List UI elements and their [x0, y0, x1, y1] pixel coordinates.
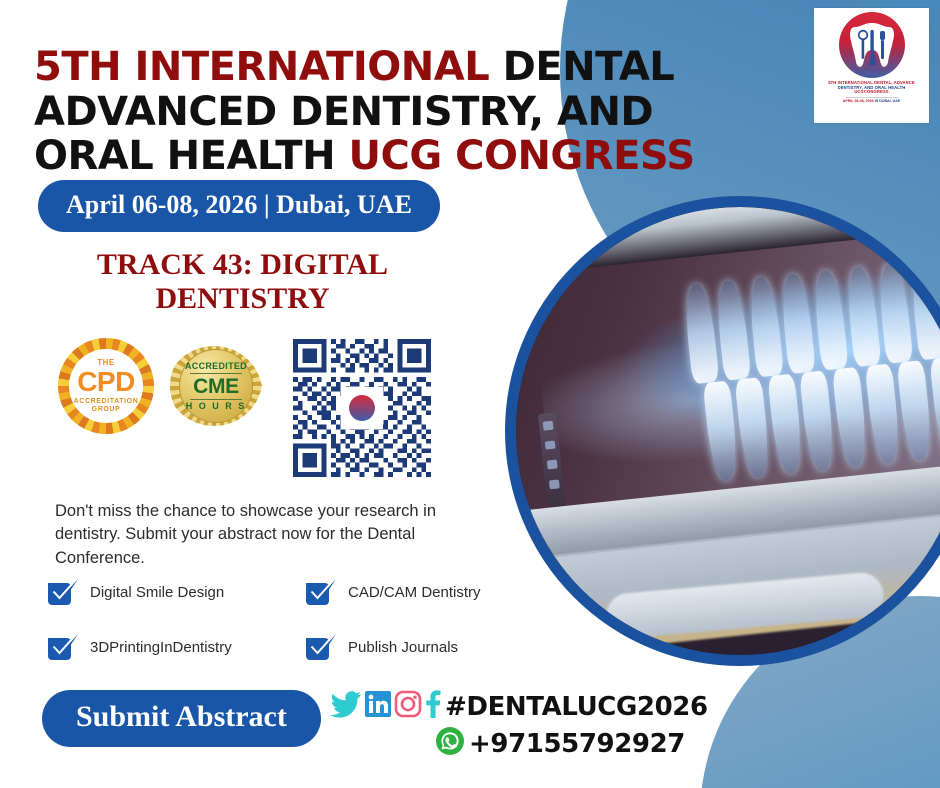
- description-text: Don't miss the chance to showcase your r…: [55, 500, 460, 572]
- check-icon: [303, 577, 339, 609]
- list-item: Digital Smile Design: [45, 577, 303, 609]
- page-title: 5TH INTERNATIONAL DENTAL ADVANCED DENTIS…: [34, 45, 694, 179]
- facebook-icon[interactable]: [424, 690, 441, 723]
- logo-date: APRIL 06-08, 2026: [843, 99, 874, 103]
- cme-divider-top: [190, 373, 242, 374]
- qr-logo-emblem: [349, 395, 375, 421]
- headline-line-1-black: DENTAL: [503, 44, 675, 90]
- logo-text-block: 5TH INTERNATIONAL DENTAL, ADVANCE DENTIS…: [828, 81, 915, 103]
- headline-line-3: ORAL HEALTH UCG CONGRESS: [34, 134, 694, 179]
- headline-line-3-black: ORAL HEALTH: [34, 133, 335, 179]
- hashtag-text: #DENTALUCG2026: [445, 692, 708, 722]
- congress-logo: 5TH INTERNATIONAL DENTAL, ADVANCE DENTIS…: [814, 8, 929, 123]
- twitter-icon[interactable]: [330, 690, 362, 723]
- cpd-badge-inner: THE CPD ACCREDITATION GROUP: [69, 349, 143, 423]
- cpd-badge: THE CPD ACCREDITATION GROUP: [58, 338, 154, 434]
- logo-place: IN DUBAI, UAE: [875, 99, 901, 103]
- logo-emblem: [839, 12, 905, 78]
- logo-line-4: APRIL 06-08, 2026 IN DUBAI, UAE: [828, 100, 915, 104]
- cpd-main-label: CPD: [77, 368, 135, 396]
- cpd-sub-label-1: ACCREDITATION: [74, 398, 139, 405]
- qr-code[interactable]: [293, 339, 431, 477]
- whatsapp-icon[interactable]: [435, 726, 465, 761]
- track-title: TRACK 43: DIGITAL DENTISTRY: [40, 248, 445, 316]
- qr-embedded-logo: [341, 387, 383, 429]
- accreditation-badges: THE CPD ACCREDITATION GROUP ACCREDITED C…: [58, 338, 262, 434]
- headline-line-1: 5TH INTERNATIONAL DENTAL: [34, 45, 694, 90]
- cme-divider-bottom: [190, 399, 242, 400]
- headline-line-2: ADVANCED DENTISTRY, AND: [34, 90, 694, 135]
- check-icon: [45, 632, 81, 664]
- list-item: 3DPrintingInDentistry: [45, 632, 303, 664]
- list-item: Publish Journals: [303, 632, 525, 664]
- headline-line-3-red: UCG CONGRESS: [349, 133, 695, 179]
- logo-line-3: UCGCONGRESS: [828, 90, 915, 95]
- social-links: #DENTALUCG2026: [330, 690, 708, 723]
- instagram-icon[interactable]: [394, 690, 422, 723]
- conference-flyer: 5TH INTERNATIONAL DENTAL, ADVANCE DENTIS…: [0, 0, 940, 788]
- check-icon: [303, 632, 339, 664]
- linkedin-icon[interactable]: [364, 690, 392, 723]
- cme-accredited-label: ACCREDITED: [185, 362, 247, 371]
- xray-photo-circle: [505, 196, 940, 666]
- list-item-label: Publish Journals: [348, 639, 458, 656]
- whatsapp-contact: +97155792927: [435, 726, 685, 761]
- tooth-icon: [849, 21, 895, 71]
- list-item-label: Digital Smile Design: [90, 584, 224, 601]
- cme-hours-label: H O U R S: [186, 402, 247, 411]
- cme-badge: ACCREDITED CME H O U R S: [170, 340, 262, 432]
- phone-number: +97155792927: [469, 729, 685, 759]
- check-icon: [45, 577, 81, 609]
- cpd-sub-label-2: GROUP: [92, 406, 121, 413]
- logo-divider: [846, 97, 898, 98]
- list-item-label: 3DPrintingInDentistry: [90, 639, 232, 656]
- event-date-badge: April 06-08, 2026 | Dubai, UAE: [38, 180, 440, 232]
- list-item-label: CAD/CAM Dentistry: [348, 584, 481, 601]
- xray-photo: [516, 207, 940, 655]
- headline-line-1-red: 5TH INTERNATIONAL: [34, 44, 489, 90]
- topics-checklist: Digital Smile Design CAD/CAM Dentistry 3…: [45, 565, 525, 675]
- submit-abstract-button[interactable]: Submit Abstract: [42, 690, 321, 747]
- cme-main-label: CME: [193, 376, 239, 397]
- list-item: CAD/CAM Dentistry: [303, 577, 525, 609]
- cme-badge-inner: ACCREDITED CME H O U R S: [179, 349, 253, 423]
